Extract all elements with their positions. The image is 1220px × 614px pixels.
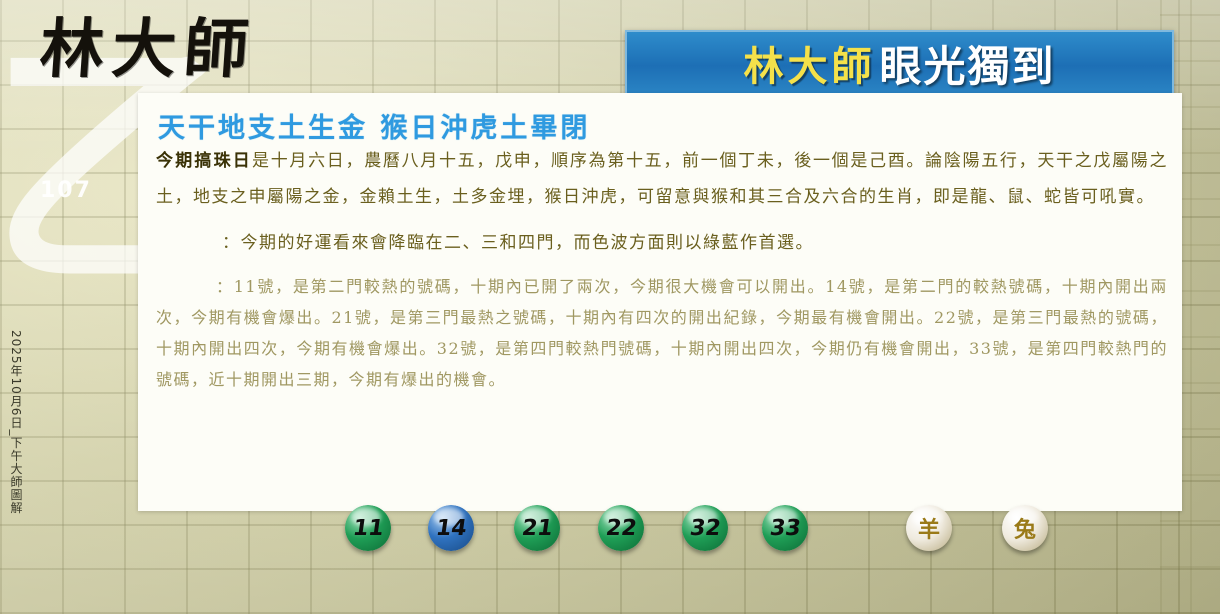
masthead-brush-title: 林大師 bbox=[38, 18, 258, 82]
lottery-ball-label: 22 bbox=[604, 516, 638, 541]
lottery-ball: 14 bbox=[428, 505, 474, 551]
lottery-ball: 11 bbox=[345, 505, 391, 551]
lottery-ball: 兔 bbox=[1002, 505, 1048, 551]
watermark-page-number: 107 bbox=[40, 178, 92, 203]
lottery-ball-label: 11 bbox=[351, 516, 385, 541]
article-lead-phrase: 今期搞珠日 bbox=[156, 151, 252, 171]
article-paragraph-1: 今期搞珠日是十月六日，農曆八月十五，戊申，順序為第十五，前一個丁未，後一個是己酉… bbox=[156, 143, 1168, 215]
lottery-ball-label: 羊 bbox=[918, 512, 940, 544]
lottery-ball-label: 33 bbox=[768, 516, 802, 541]
lottery-ball-label: 21 bbox=[520, 516, 554, 541]
lottery-ball-label: 32 bbox=[688, 516, 722, 541]
article-paragraph-2: ：今期的好運看來會降臨在二、三和四門，而色波方面則以綠藍作首選。 bbox=[156, 225, 1168, 261]
article-body: 今期搞珠日是十月六日，農曆八月十五，戊申，順序為第十五，前一個丁未，後一個是己酉… bbox=[156, 143, 1168, 405]
lottery-ball-strip: 111421223233羊兔 bbox=[0, 505, 1220, 565]
lottery-ball: 羊 bbox=[906, 505, 952, 551]
article-paragraph-1-text: 是十月六日，農曆八月十五，戊申，順序為第十五，前一個丁未，後一個是己酉。論陰陽五… bbox=[156, 151, 1168, 207]
lottery-ball: 22 bbox=[598, 505, 644, 551]
article-sheet: 天干地支土生金 猴日沖虎土畢閉 今期搞珠日是十月六日，農曆八月十五，戊申，順序為… bbox=[138, 93, 1182, 511]
article-title: 天干地支土生金 猴日沖虎土畢閉 bbox=[158, 106, 590, 145]
lottery-ball: 32 bbox=[682, 505, 728, 551]
banner-brand-text: 林大師 bbox=[743, 34, 875, 92]
footer-vertical-caption: 2025年10月6日_下午大師圖解 bbox=[8, 330, 25, 514]
header-banner: 林大師 眼光獨到 bbox=[625, 30, 1174, 96]
lottery-ball-label: 14 bbox=[434, 516, 468, 541]
article-paragraph-3: ：11號，是第二門較熱的號碼，十期內已開了兩次，今期很大機會可以開出。14號，是… bbox=[156, 271, 1168, 395]
lottery-ball-label: 兔 bbox=[1014, 512, 1036, 544]
banner-slogan-text: 眼光獨到 bbox=[879, 33, 1055, 94]
lottery-ball: 33 bbox=[762, 505, 808, 551]
lottery-ball: 21 bbox=[514, 505, 560, 551]
